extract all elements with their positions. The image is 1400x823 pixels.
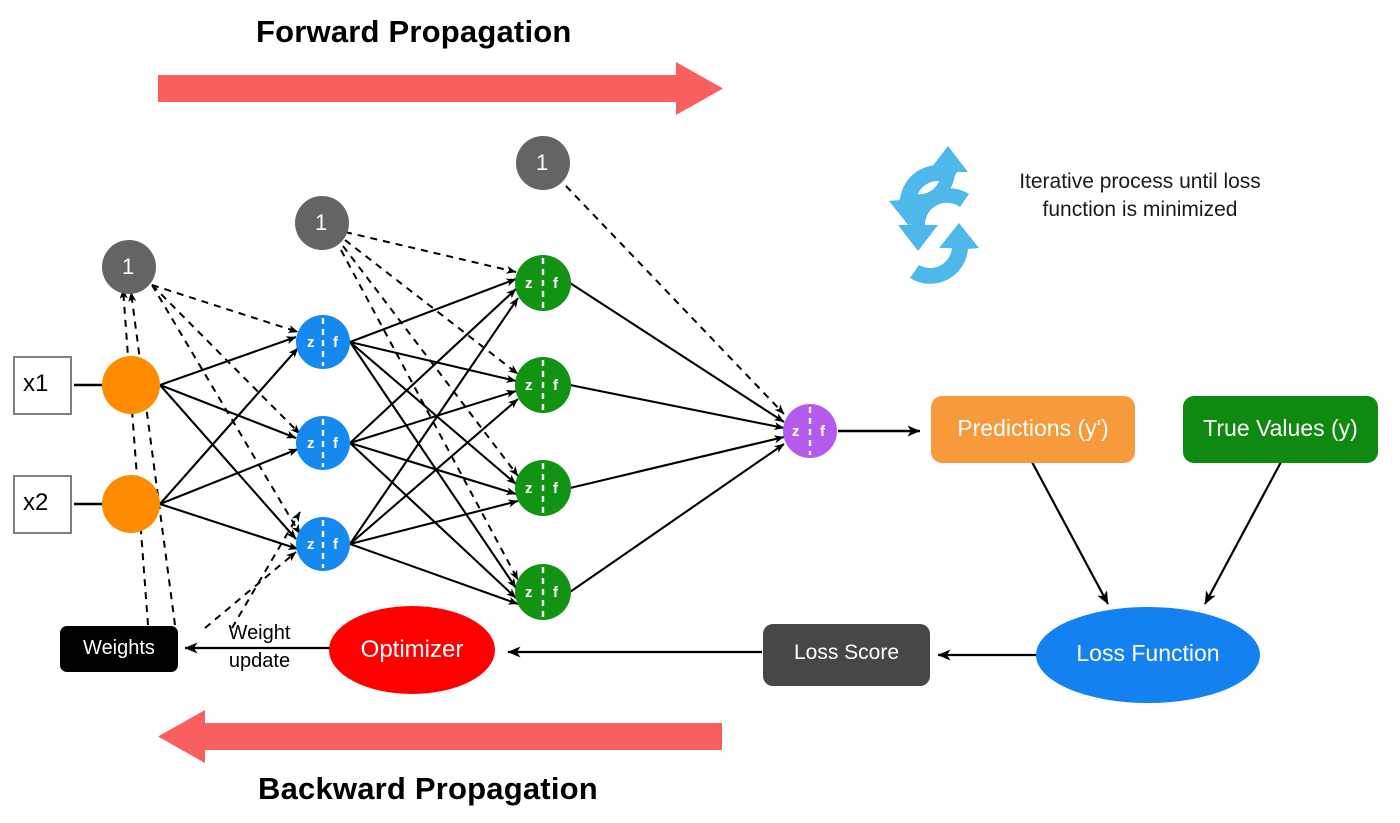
bias-hidden1-layer[interactable] <box>295 196 349 250</box>
hidden2-neuron-1[interactable] <box>515 255 571 311</box>
x1-box[interactable] <box>14 357 71 414</box>
edges-input-to-hidden1 <box>160 337 298 549</box>
diagram-scene <box>0 0 1400 823</box>
edges-hidden1-to-hidden2 <box>350 279 518 604</box>
forward-propagation-arrow <box>158 62 723 115</box>
iterative-process-note: Iterative process until loss function is… <box>1005 168 1275 223</box>
input-neuron-2[interactable] <box>102 475 160 533</box>
optimizer-ellipse[interactable] <box>329 606 495 694</box>
edges-hidden2-to-output <box>570 283 784 592</box>
weights-box[interactable] <box>60 626 178 672</box>
hidden2-neuron-2[interactable] <box>515 357 571 413</box>
hidden2-neuron-4[interactable] <box>515 564 571 620</box>
input-neuron-1[interactable] <box>102 356 160 414</box>
hidden1-neuron-3[interactable] <box>296 517 350 571</box>
edges-to-loss-function <box>1032 462 1281 604</box>
backward-propagation-title: Backward Propagation <box>258 771 598 807</box>
hidden2-neuron-3[interactable] <box>515 460 571 516</box>
true-values-box[interactable] <box>1183 396 1378 463</box>
hidden1-neuron-2[interactable] <box>296 416 350 470</box>
refresh-cycle-icon <box>889 146 979 284</box>
x2-box[interactable] <box>14 476 71 533</box>
edges-bias1-to-hidden1 <box>152 285 300 534</box>
loss-score-box[interactable] <box>763 624 930 686</box>
backward-propagation-arrow <box>158 710 722 763</box>
loss-function-ellipse[interactable] <box>1036 607 1260 703</box>
hidden1-neuron-1[interactable] <box>296 315 350 369</box>
bias-input-layer[interactable] <box>102 240 156 294</box>
predictions-box[interactable] <box>931 396 1135 463</box>
forward-propagation-title: Forward Propagation <box>256 14 572 50</box>
bias-hidden2-layer[interactable] <box>516 136 570 190</box>
diagram-canvas: Forward Propagation Backward Propagation… <box>0 0 1400 823</box>
output-neuron[interactable] <box>783 404 837 458</box>
edges-bias3-to-output <box>566 186 784 414</box>
